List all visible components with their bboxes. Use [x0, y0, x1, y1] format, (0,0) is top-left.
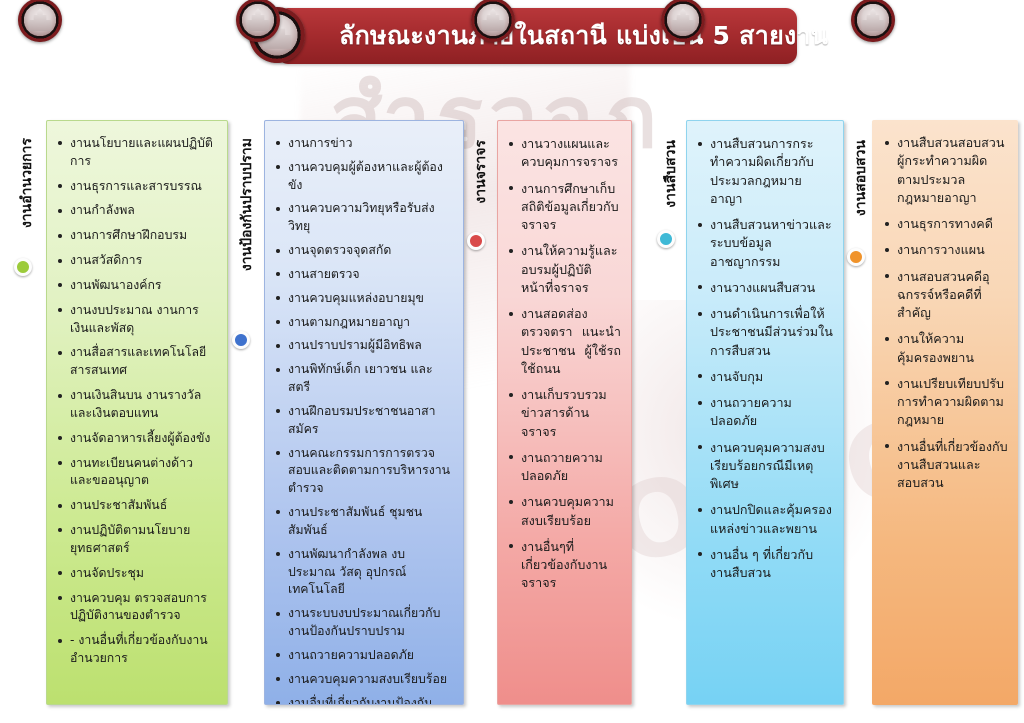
column-accent-dot-administration	[14, 258, 32, 276]
task-item: งานพัฒนากำลังพล งบประมาณ วัสดุ อุปกรณ์ เ…	[275, 546, 451, 599]
task-item: งานถวายความปลอดภัย	[275, 647, 451, 665]
task-list-investigation: งานสืบสวนการกระทำความผิดเกี่ยวกับประมวลก…	[697, 135, 833, 582]
task-item: งานระบบงบประมาณเกี่ยวกับงานป้องกันปราบปร…	[275, 605, 451, 641]
task-item: งานอื่นที่เกี่ยวกับงานป้องกันปราบปราม	[275, 695, 451, 705]
page-title: ลักษณะงานภายในสถานี แบ่งเป็น 5 สายงาน	[277, 16, 828, 56]
task-item: งานการวางแผน	[884, 241, 1008, 259]
task-item: งานจับกุม	[697, 368, 833, 386]
task-item: งานถวายความปลอดภัย	[697, 394, 833, 431]
column-panel-administration: งานนโยบายและแผนปฏิบัติการงานธุรการและสาร…	[46, 120, 228, 705]
column-label-traffic: งานจราจร	[470, 140, 492, 204]
task-item: งานนโยบายและแผนปฏิบัติการ	[57, 135, 215, 171]
task-item: งานเงินสินบน งานรางวัลและเงินตอบแทน	[57, 387, 215, 423]
police-emblem-icon-administration	[18, 0, 62, 42]
task-item: งานควบคุมแหล่งอบายมุข	[275, 290, 451, 308]
task-item: งานวางแผนและควบคุมการจราจร	[508, 135, 621, 172]
task-item: งานการข่าว	[275, 135, 451, 153]
task-item: งานสวัสดิการ	[57, 252, 215, 270]
task-item: งานทะเบียนคนต่างด้าวและขออนุญาต	[57, 455, 215, 491]
task-item: งานสืบสวนการกระทำความผิดเกี่ยวกับประมวลก…	[697, 135, 833, 208]
task-item: งานปราบปรามผู้มีอิทธิพล	[275, 337, 451, 355]
task-item: งานควบคุม ตรวจสอบการปฏิบัติงานของตำรวจ	[57, 590, 215, 626]
police-emblem-icon-traffic	[471, 0, 515, 42]
column-label-investigation: งานสืบสวน	[660, 140, 682, 208]
task-item: งานวางแผนสืบสวน	[697, 279, 833, 297]
task-item: งานอื่น ๆ ที่เกี่ยวกับงานสืบสวน	[697, 546, 833, 583]
task-item: งานเปรียบเทียบปรับการทำความผิดตามกฎหมาย	[884, 375, 1008, 430]
task-item: งานปกปิดและคุ้มครองแหล่งข่าวและพยาน	[697, 501, 833, 538]
column-label-crime-prevention: งานป้องกันปราบปราม	[236, 138, 258, 271]
task-item: งานควบคุมผู้ต้องหาและผู้ต้องขัง	[275, 159, 451, 195]
task-item: งานอื่นๆที่เกี่ยวข้องกับงานจราจร	[508, 538, 621, 593]
task-item: งานตามกฎหมายอาญา	[275, 314, 451, 332]
column-accent-dot-traffic	[467, 232, 485, 250]
police-emblem-icon-crime-prevention	[236, 0, 280, 42]
column-panel-inquiry: งานสืบสวนสอบสวนผู้กระทำความผิดตามประมวลก…	[872, 120, 1018, 705]
task-item: งานให้ความรู้และอบรมผู้ปฏิบัติหน้าที่จรา…	[508, 242, 621, 297]
task-list-traffic: งานวางแผนและควบคุมการจราจรงานการศึกษาเก็…	[508, 135, 621, 593]
task-item: งานควบความวิทยุหรือรับส่งวิทยุ	[275, 200, 451, 236]
task-item: งานควบคุมความสงบเรียบร้อย	[275, 671, 451, 689]
task-item: งานสอดส่อง ตรวจตรา แนะนำประชาชน ผู้ใช้รถ…	[508, 305, 621, 378]
task-item: งานคณะกรรมการการตรวจสอบและติดตามการบริหา…	[275, 445, 451, 498]
task-item: งานประชาสัมพันธ์ ชุมชนสัมพันธ์	[275, 504, 451, 540]
task-item: งานถวายความปลอดภัย	[508, 449, 621, 486]
task-item: งานสืบสวนหาข่าวและระบบข้อมูลอาชญากรรม	[697, 216, 833, 271]
task-item: งานควบคุมความสงบเรียบร้อยกรณีมีเหตุพิเศษ	[697, 439, 833, 494]
column-panel-investigation: งานสืบสวนการกระทำความผิดเกี่ยวกับประมวลก…	[686, 120, 844, 705]
task-item: งานดำเนินการเพื่อให้ประชาชนมีส่วนร่วมในก…	[697, 305, 833, 360]
column-accent-dot-crime-prevention	[232, 331, 250, 349]
task-item: งานการศึกษาเก็บสถิติข้อมูลเกี่ยวกับจราจร	[508, 180, 621, 235]
task-item: งานให้ความคุ้มครองพยาน	[884, 330, 1008, 367]
task-list-inquiry: งานสืบสวนสอบสวนผู้กระทำความผิดตามประมวลก…	[884, 134, 1008, 492]
task-item: งานปฏิบัติตามนโยบายยุทธศาสตร์	[57, 522, 215, 558]
column-accent-dot-investigation	[657, 230, 675, 248]
task-item: งานพิทักษ์เด็ก เยาวชน และสตรี	[275, 361, 451, 397]
task-item: งานอื่นที่เกี่ยวข้องกับงานสืบสวนและสอบสว…	[884, 438, 1008, 493]
police-emblem-icon-inquiry	[851, 0, 895, 42]
column-panel-traffic: งานวางแผนและควบคุมการจราจรงานการศึกษาเก็…	[497, 120, 632, 705]
task-item: งานเก็บรวบรวมข่าวสารด้านจราจร	[508, 386, 621, 441]
column-label-inquiry: งานสอบสวน	[850, 140, 872, 216]
column-panel-crime-prevention: งานการข่าวงานควบคุมผู้ต้องหาและผู้ต้องขั…	[264, 120, 464, 705]
task-item: งานฝึกอบรมประชาชนอาสาสมัคร	[275, 403, 451, 439]
task-item: งานจัดอาหารเลี้ยงผู้ต้องขัง	[57, 430, 215, 448]
task-item: งานการศึกษาฝึกอบรม	[57, 227, 215, 245]
task-item: - งานอื่นที่เกี่ยวข้องกับงานอำนวยการ	[57, 632, 215, 668]
column-accent-dot-inquiry	[847, 248, 865, 266]
task-item: งานจุดตรวจจุดสกัด	[275, 242, 451, 260]
task-item: งานสอบสวนคดีอุฉกรรจ์หรือคดีที่สำคัญ	[884, 268, 1008, 323]
task-item: งานงบประมาณ งานการเงินและพัสดุ	[57, 302, 215, 338]
task-list-crime-prevention: งานการข่าวงานควบคุมผู้ต้องหาและผู้ต้องขั…	[275, 135, 451, 705]
task-item: งานกำลังพล	[57, 202, 215, 220]
task-list-administration: งานนโยบายและแผนปฏิบัติการงานธุรการและสาร…	[57, 135, 215, 668]
police-emblem-icon-investigation	[661, 0, 705, 42]
task-item: งานสายตรวจ	[275, 266, 451, 284]
task-item: งานสืบสวนสอบสวนผู้กระทำความผิดตามประมวลก…	[884, 134, 1008, 207]
task-item: งานธุรการทางคดี	[884, 215, 1008, 233]
page-title-bar: ลักษณะงานภายในสถานี แบ่งเป็น 5 สายงาน	[277, 8, 797, 64]
task-item: งานสื่อสารและเทคโนโลยีสารสนเทศ	[57, 344, 215, 380]
column-label-administration: งานอำนวยการ	[16, 138, 38, 228]
task-item: งานพัฒนาองค์กร	[57, 277, 215, 295]
task-item: งานธุรการและสารบรรณ	[57, 178, 215, 196]
task-item: งานควบคุมความสงบเรียบร้อย	[508, 493, 621, 530]
task-item: งานจัดประชุม	[57, 565, 215, 583]
task-item: งานประชาสัมพันธ์	[57, 497, 215, 515]
infographic-root: สำรวจภ POLICE ลักษณะงานภายในสถานี แบ่งเป…	[0, 0, 1024, 723]
